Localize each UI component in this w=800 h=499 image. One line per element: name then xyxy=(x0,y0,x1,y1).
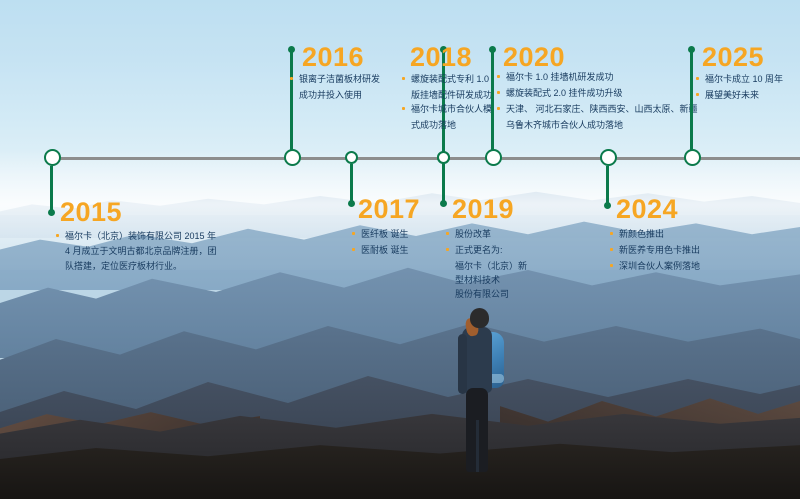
event-block-2015: 福尔卡（北京）装饰有限公司 2015 年 4 月成立于文明古都北京品牌注册，团 … xyxy=(56,229,225,274)
hiker-arm xyxy=(458,334,467,394)
event-bullet: 深圳合伙人案例落地 xyxy=(610,259,700,273)
timeline-stem-2019 xyxy=(442,164,445,204)
event-line-cont: 式成功落地 xyxy=(402,118,492,132)
event-line: 福尔卡成立 10 周年 xyxy=(705,74,783,84)
timeline-stem-dot-2016 xyxy=(288,46,295,53)
event-line-cont: 股份有限公司 xyxy=(446,287,533,301)
timeline-stem-dot-2024 xyxy=(604,202,611,209)
event-bullet: 新医养专用色卡推出 xyxy=(610,243,700,257)
event-line: 天津、 河北石家庄、陕西西安、山西太原、新疆 xyxy=(506,104,698,114)
year-label-2019: 2019 xyxy=(452,196,514,223)
event-text-2015: 福尔卡（北京）装饰有限公司 2015 年 4 月成立于文明古都北京品牌注册，团 … xyxy=(56,229,225,274)
timeline-stem-dot-2017 xyxy=(348,200,355,207)
event-line-cont: 乌鲁木齐城市合伙人成功落地 xyxy=(497,118,698,132)
event-line: 股份改革 xyxy=(455,229,491,239)
event-block-2018: 螺旋装配式专利 1.0 版挂墙配件研发成功 福尔卡城市合伙人模 式成功落地 xyxy=(402,72,492,132)
event-block-2024: 新颜色推出 新医养专用色卡推出 深圳合伙人案例落地 xyxy=(610,227,700,275)
event-line-cont: 福尔卡（北京）新型材料技术 xyxy=(446,259,533,287)
event-line: 4 月成立于文明古都北京品牌注册，团 xyxy=(65,246,217,256)
timeline-stem-2025 xyxy=(690,50,693,150)
event-line: 医耐板 诞生 xyxy=(361,245,409,255)
timeline-stem-2015 xyxy=(50,166,53,213)
event-block-2025: 福尔卡成立 10 周年 展望美好未来 xyxy=(696,72,783,104)
event-line: 福尔卡 1.0 挂墙机研发成功 xyxy=(506,72,614,82)
year-label-2025: 2025 xyxy=(702,44,764,71)
event-line: 螺旋装配式专利 1.0 xyxy=(411,74,489,84)
event-bullet: 医纤板 诞生 xyxy=(352,227,409,241)
event-line: 深圳合伙人案例落地 xyxy=(619,261,700,271)
timeline-stem-dot-2015 xyxy=(48,209,55,216)
event-line: 银离子洁菌板材研发 xyxy=(299,74,380,84)
hiker-figure xyxy=(448,308,518,488)
timeline-node-2015[interactable] xyxy=(44,149,61,166)
event-block-2017: 医纤板 诞生 医耐板 诞生 xyxy=(352,227,409,259)
timeline-stem-dot-2019 xyxy=(440,200,447,207)
timeline-node-2019-shared xyxy=(437,151,450,164)
event-bullet: 螺旋装配式专利 1.0 xyxy=(402,72,492,86)
timeline-stem-dot-2025 xyxy=(688,46,695,53)
timeline-node-2016[interactable] xyxy=(284,149,301,166)
year-label-2016: 2016 xyxy=(302,44,364,71)
event-bullet: 福尔卡成立 10 周年 xyxy=(696,72,783,86)
event-line: 螺旋装配式 2.0 挂件成功升级 xyxy=(506,88,623,98)
timeline-stem-2024 xyxy=(606,166,609,206)
year-label-2017: 2017 xyxy=(358,196,420,223)
event-line: 新医养专用色卡推出 xyxy=(619,245,700,255)
timeline-stem-2020 xyxy=(491,50,494,150)
timeline-node-2025[interactable] xyxy=(684,149,701,166)
timeline-node-2017[interactable] xyxy=(345,151,358,164)
timeline-node-2020[interactable] xyxy=(485,149,502,166)
event-block-2019: 股份改革 正式更名为: 福尔卡（北京）新型材料技术 股份有限公司 xyxy=(446,227,533,301)
timeline-stem-2017 xyxy=(350,164,353,204)
event-bullet: 股份改革 xyxy=(446,227,533,241)
event-line: 福尔卡城市合伙人模 xyxy=(411,104,492,114)
year-label-2024: 2024 xyxy=(616,196,678,223)
event-bullet: 天津、 河北石家庄、陕西西安、山西太原、新疆 xyxy=(497,102,698,116)
event-block-2016: 银离子洁菌板材研发 成功并投入使用 xyxy=(290,72,380,102)
event-bullet: 福尔卡 1.0 挂墙机研发成功 xyxy=(497,70,698,84)
event-bullet: 银离子洁菌板材研发 xyxy=(290,72,380,86)
event-line-cont: 版挂墙配件研发成功 xyxy=(402,88,492,102)
event-bullet: 医耐板 诞生 xyxy=(352,243,409,257)
hiker-head xyxy=(470,308,489,328)
hiker-leg-gap xyxy=(476,420,479,472)
event-block-2020: 福尔卡 1.0 挂墙机研发成功 螺旋装配式 2.0 挂件成功升级 天津、 河北石… xyxy=(497,70,698,132)
event-bullet: 螺旋装配式 2.0 挂件成功升级 xyxy=(497,86,698,100)
year-label-2018: 2018 xyxy=(410,44,472,71)
event-bullet: 福尔卡城市合伙人模 xyxy=(402,102,492,116)
timeline-node-2024[interactable] xyxy=(600,149,617,166)
event-line: 新颜色推出 xyxy=(619,229,664,239)
event-line: 正式更名为: xyxy=(455,245,503,255)
year-label-2020: 2020 xyxy=(503,44,565,71)
event-line: 队搭建，定位医疗板材行业。 xyxy=(65,261,182,271)
event-line: 医纤板 诞生 xyxy=(361,229,409,239)
timeline-stem-dot-2020 xyxy=(489,46,496,53)
event-line: 福尔卡（北京）装饰有限公司 2015 年 xyxy=(65,231,216,241)
timeline-infographic: 2015 福尔卡（北京）装饰有限公司 2015 年 4 月成立于文明古都北京品牌… xyxy=(0,0,800,499)
event-bullet: 新颜色推出 xyxy=(610,227,700,241)
event-line: 展望美好未来 xyxy=(705,90,759,100)
event-bullet: 展望美好未来 xyxy=(696,88,783,102)
year-label-2015: 2015 xyxy=(60,199,122,226)
event-bullet: 正式更名为: xyxy=(446,243,533,257)
event-line-cont: 成功并投入使用 xyxy=(290,88,380,102)
